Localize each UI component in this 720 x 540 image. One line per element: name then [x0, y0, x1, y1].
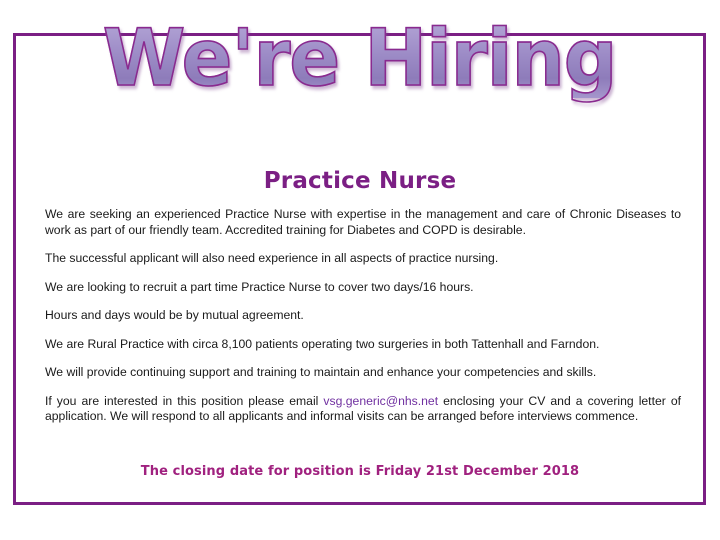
- paragraph-experience: The successful applicant will also need …: [45, 251, 681, 267]
- paragraph-hours: We are looking to recruit a part time Pr…: [45, 280, 681, 296]
- paragraph-role-summary: We are seeking an experienced Practice N…: [45, 207, 681, 238]
- paragraph-schedule: Hours and days would be by mutual agreem…: [45, 308, 681, 324]
- paragraph-how-to-apply: If you are interested in this position p…: [45, 394, 681, 425]
- closing-date-container: The closing date for position is Friday …: [0, 462, 720, 480]
- job-advert-poster: We're Hiring Practice Nurse We are seeki…: [0, 0, 720, 540]
- apply-text-before-email: If you are interested in this position p…: [45, 394, 323, 408]
- job-role-title: Practice Nurse: [264, 168, 457, 194]
- paragraph-practice-info: We are Rural Practice with circa 8,100 p…: [45, 337, 681, 353]
- email-link[interactable]: vsg.generic@nhs.net: [323, 394, 438, 408]
- paragraph-training-support: We will provide continuing support and t…: [45, 365, 681, 381]
- subtitle-container: Practice Nurse: [0, 168, 720, 194]
- footer-artifact: [0, 520, 720, 540]
- headline-container: We're Hiring: [0, 20, 720, 98]
- page-title: We're Hiring: [103, 20, 617, 98]
- body-copy: We are seeking an experienced Practice N…: [45, 207, 681, 438]
- closing-date: The closing date for position is Friday …: [141, 464, 579, 479]
